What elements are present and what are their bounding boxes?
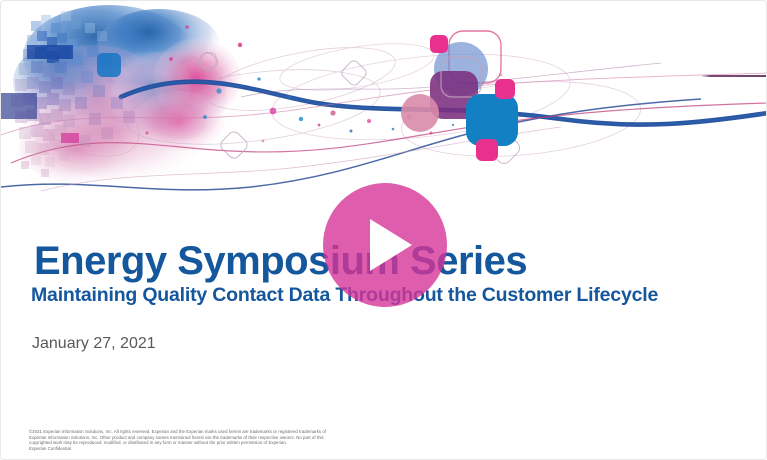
art-small-pink-square-bottom	[476, 139, 498, 161]
legal-line-3: copyrighted work may be reproduced, modi…	[29, 440, 449, 446]
pixel-mosaic-overlay	[1, 1, 767, 201]
confidentiality-label: Experian Confidential	[29, 446, 449, 452]
right-accent-rule	[701, 75, 767, 77]
legal-copyright-notice: ©2021 Experian Information Solutions, In…	[29, 429, 449, 452]
page-title: Energy Symposium Series	[34, 239, 527, 284]
art-purple-square	[430, 71, 478, 119]
video-thumbnail-slide[interactable]: Energy Symposium Series Maintaining Qual…	[0, 0, 767, 460]
play-button[interactable]	[323, 183, 447, 307]
splash-vector-art	[1, 1, 767, 201]
art-rose-circle	[401, 94, 439, 132]
art-outline-square	[449, 31, 501, 83]
art-small-pink-square-top	[430, 35, 448, 53]
art-small-pink-square-mid	[495, 79, 515, 99]
art-blue-circle	[434, 42, 488, 96]
art-cyan-square	[466, 94, 518, 146]
decorative-splash-artwork	[1, 1, 767, 201]
presentation-date: January 27, 2021	[32, 335, 156, 353]
play-triangle-icon	[370, 219, 412, 271]
